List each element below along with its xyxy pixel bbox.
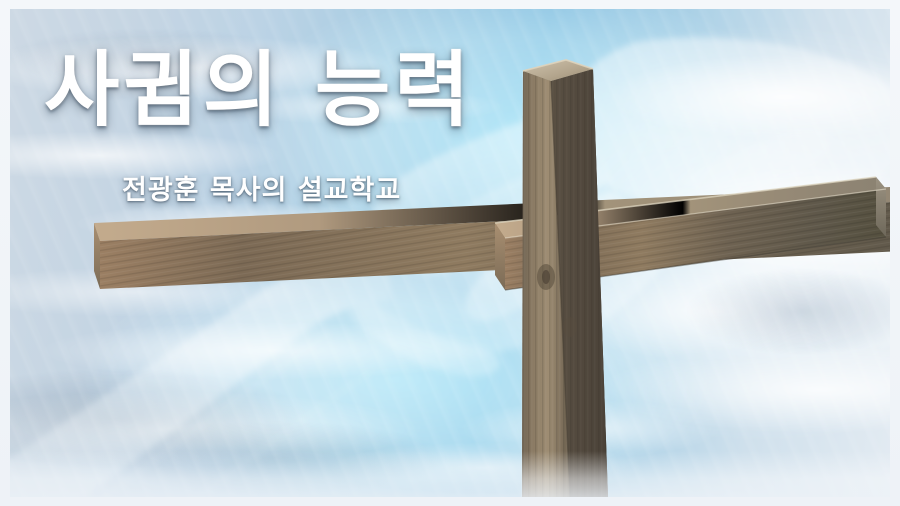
page-subtitle: 전광훈 목사의 설교학교 <box>122 168 401 207</box>
photo-stage: 사귐의 능력 전광훈 목사의 설교학교 <box>10 9 890 497</box>
page-title: 사귐의 능력 <box>44 47 474 136</box>
sermon-school-banner: 사귐의 능력 전광훈 목사의 설교학교 <box>0 0 900 506</box>
